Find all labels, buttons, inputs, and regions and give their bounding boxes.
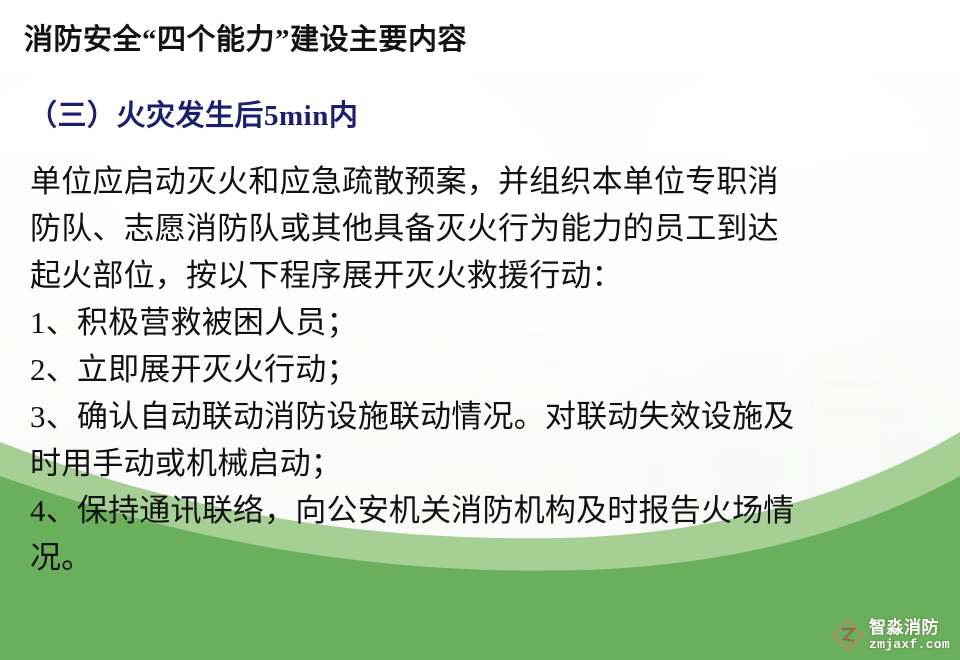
body-text-block: 单位应启动灭火和应急疏散预案，并组织本单位专职消 防队、志愿消防队或其他具备灭火… xyxy=(30,158,932,581)
watermark-brand-name: 智淼消防 xyxy=(869,619,950,636)
watermark: 智淼消防 zmjaxf.com xyxy=(831,618,950,652)
watermark-text: 智淼消防 zmjaxf.com xyxy=(869,619,950,651)
body-line: 单位应启动灭火和应急疏散预案，并组织本单位专职消 xyxy=(30,158,932,205)
brand-diamond-icon xyxy=(831,618,865,652)
body-line-item-2: 2、立即展开灭火行动； xyxy=(30,346,932,393)
watermark-url: zmjaxf.com xyxy=(869,638,950,651)
body-line: 起火部位，按以下程序展开灭火救援行动： xyxy=(30,252,932,299)
page-title: 消防安全“四个能力”建设主要内容 xyxy=(24,16,467,58)
presentation-slide: 消防安全“四个能力”建设主要内容 （三）火灾发生后5min内 单位应启动灭火和应… xyxy=(0,0,960,660)
section-subtitle: （三）火灾发生后5min内 xyxy=(28,92,358,134)
body-line: 防队、志愿消防队或其他具备灭火行为能力的员工到达 xyxy=(30,205,932,252)
body-line-item-3-cont: 时用手动或机械启动； xyxy=(30,440,932,487)
body-line-item-4: 4、保持通讯联络，向公安机关消防机构及时报告火场情 xyxy=(30,487,932,534)
body-line-item-3: 3、确认自动联动消防设施联动情况。对联动失效设施及 xyxy=(30,393,932,440)
body-line-item-1: 1、积极营救被困人员； xyxy=(30,299,932,346)
body-line-item-4-cont: 况。 xyxy=(30,534,932,581)
